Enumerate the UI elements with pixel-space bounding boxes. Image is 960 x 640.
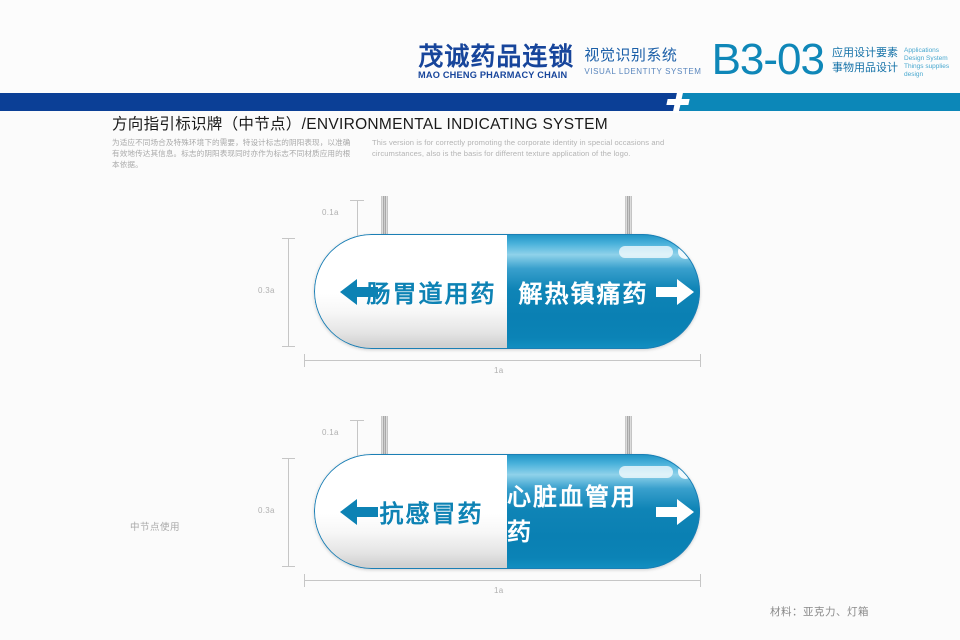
dim-width-guide (304, 580, 700, 581)
dim-height-tick-bottom (282, 566, 295, 567)
hanging-pole-left (381, 416, 388, 456)
section-description-cn: 为适应不同场合及特殊环境下的需要，特设计标志的阴阳表现，以准确有效地传达其信息。… (112, 137, 357, 170)
dim-height-guide (288, 458, 289, 566)
vis-identity-cn: 视觉识别系统 (584, 46, 701, 66)
dim-width-label: 1a (494, 586, 504, 595)
category-cn: 应用设计要素 事物用品设计 (832, 46, 904, 76)
dim-width-tick-right (700, 354, 701, 367)
header-divider-bars (0, 93, 960, 111)
material-note: 材料：亚克力、灯箱 (770, 604, 869, 619)
sign-label-left: 抗感冒药 (314, 454, 507, 569)
divider-bar-cyan (680, 93, 960, 111)
direction-sign-board[interactable]: 肠胃道用药 解热镇痛药 (314, 234, 700, 349)
usage-note: 中节点使用 (130, 519, 180, 533)
hanging-pole-right (625, 416, 632, 456)
dim-height-tick-bottom (282, 346, 295, 347)
dim-pole-label: 0.1a (322, 428, 339, 437)
vis-identity-block: 视觉识别系统 VISUAL LDENTITY SYSTEM (584, 44, 711, 77)
sign-label-left: 肠胃道用药 (314, 234, 507, 349)
dim-pole-guide (357, 200, 358, 236)
dim-pole-tick-top (350, 200, 364, 201)
dim-height-guide (288, 238, 289, 346)
dim-pole-label: 0.1a (322, 208, 339, 217)
dim-height-label: 0.3a (258, 506, 275, 515)
dim-width-tick-right (700, 574, 701, 587)
category-cn-line1: 应用设计要素 (832, 46, 904, 61)
dim-width-tick-left (304, 574, 305, 587)
sign-label-right: 心脏血管用药 (507, 454, 700, 569)
dim-height-label: 0.3a (258, 286, 275, 295)
page-root: 茂诚药品连锁 MAO CHENG PHARMACY CHAIN 视觉识别系统 V… (0, 0, 960, 640)
sign-label-right: 解热镇痛药 (507, 234, 700, 349)
brand-name-en: MAO CHENG PHARMACY CHAIN (418, 70, 569, 82)
category-en: Applications Design System Things suppli… (904, 46, 960, 79)
pharmacy-cross-icon (665, 91, 691, 113)
divider-bar-navy (0, 93, 680, 111)
page-header: 茂诚药品连锁 MAO CHENG PHARMACY CHAIN 视觉识别系统 V… (0, 0, 960, 93)
hanging-pole-right (625, 196, 632, 236)
dim-height-tick-top (282, 238, 295, 239)
dim-pole-guide (357, 420, 358, 456)
dim-width-guide (304, 360, 700, 361)
brand-name-cn: 茂诚药品连锁 (418, 44, 574, 70)
dim-width-tick-left (304, 354, 305, 367)
page-code: B3-03 (712, 38, 832, 82)
brand-block: 茂诚药品连锁 MAO CHENG PHARMACY CHAIN 视觉识别系统 V… (418, 44, 960, 82)
hanging-pole-left (381, 196, 388, 236)
dim-width-label: 1a (494, 366, 504, 375)
brand-logo: 茂诚药品连锁 MAO CHENG PHARMACY CHAIN (418, 44, 584, 82)
direction-sign-board[interactable]: 抗感冒药 心脏血管用药 (314, 454, 700, 569)
dim-height-tick-top (282, 458, 295, 459)
category-block: 应用设计要素 事物用品设计 Applications Design System… (832, 44, 960, 79)
dim-pole-tick-top (350, 420, 364, 421)
vis-identity-en: VISUAL LDENTITY SYSTEM (584, 66, 701, 77)
section-description-en: This version is for correctly promoting … (372, 137, 692, 159)
category-cn-line2: 事物用品设计 (832, 61, 904, 76)
section-title: 方向指引标识牌（中节点）/ENVIRONMENTAL INDICATING SY… (112, 112, 608, 134)
